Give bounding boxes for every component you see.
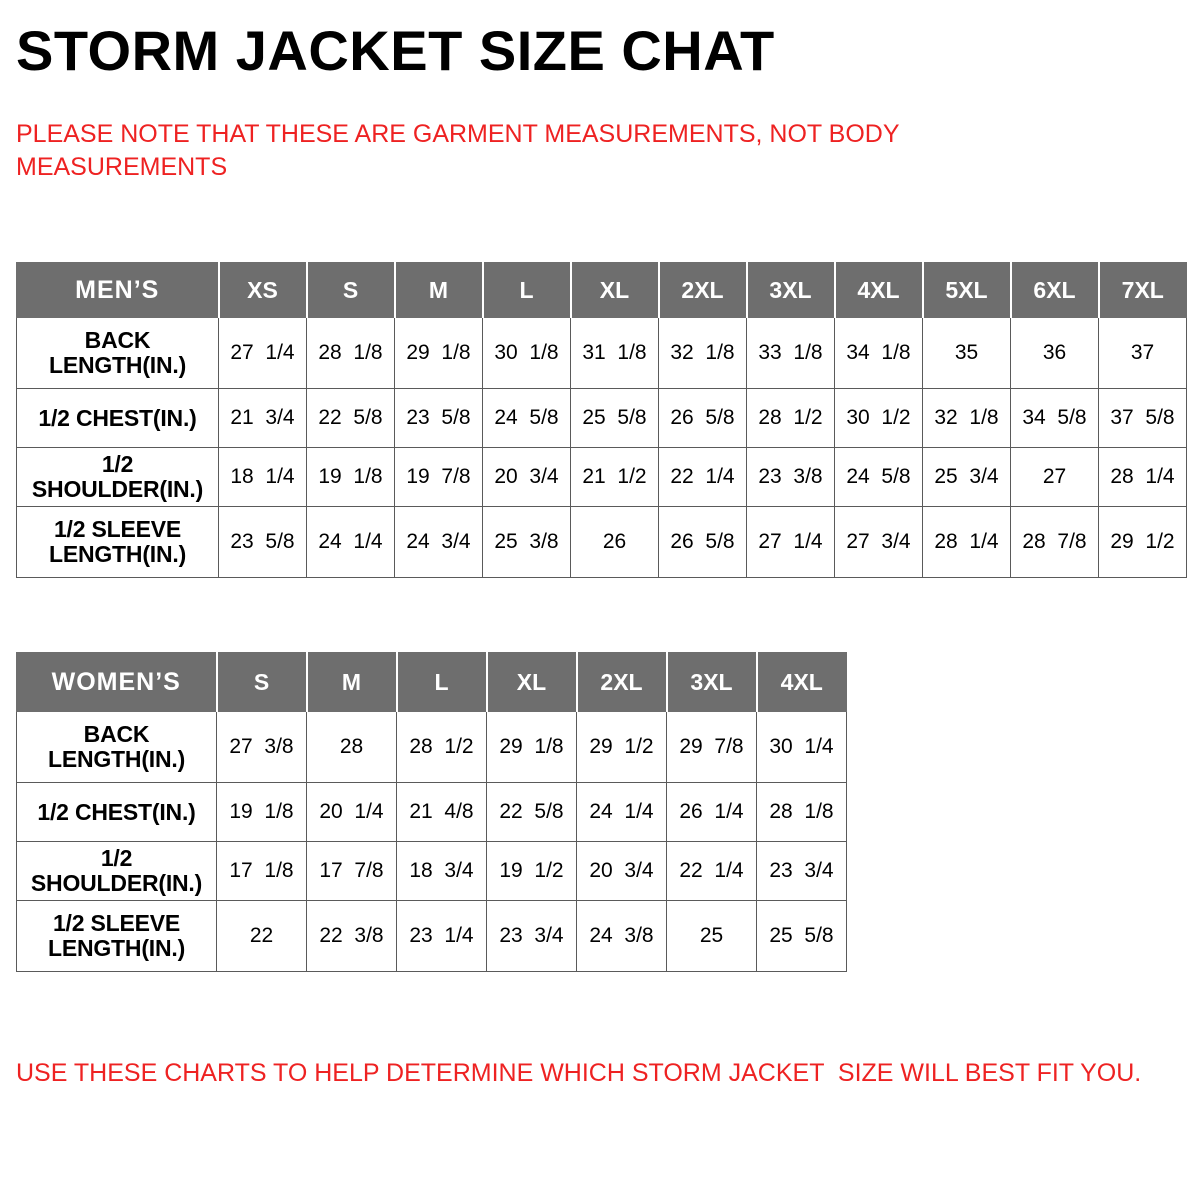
cell: 28 1/8	[757, 783, 847, 842]
cell: 23 5/8	[219, 507, 307, 578]
mens-size-table: MEN’S XS S M L XL 2XL 3XL 4XL 5XL 6XL 7X…	[16, 262, 1187, 578]
mens-table-corner-label: MEN’S	[17, 263, 219, 318]
cell: 18 1/4	[219, 448, 307, 507]
row-label-line-2: LENGTH(IN.)	[17, 542, 218, 567]
cell: 28 1/8	[307, 318, 395, 389]
mens-row-label-half-sleeve-length: 1/2 SLEEVE LENGTH(IN.)	[17, 507, 219, 578]
womens-size-table: WOMEN’S S M L XL 2XL 3XL 4XL BACK LENGTH…	[16, 652, 847, 972]
cell: 18 3/4	[397, 842, 487, 901]
mens-size-header-xs: XS	[219, 263, 307, 318]
mens-size-header-4xl: 4XL	[835, 263, 923, 318]
mens-row-label-half-shoulder: 1/2 SHOULDER(IN.)	[17, 448, 219, 507]
cell: 36	[1011, 318, 1099, 389]
womens-size-header-s: S	[217, 653, 307, 712]
table-row: BACK LENGTH(IN.) 27 3/8 28 28 1/2 29 1/8…	[17, 712, 847, 783]
cell: 27	[1011, 448, 1099, 507]
cell: 17 7/8	[307, 842, 397, 901]
cell: 32 1/8	[659, 318, 747, 389]
size-chart-page: STORM JACKET SIZE CHAT PLEASE NOTE THAT …	[0, 0, 1200, 1200]
womens-row-label-half-shoulder: 1/2 SHOULDER(IN.)	[17, 842, 217, 901]
cell: 32 1/8	[923, 389, 1011, 448]
table-row: 1/2 SLEEVE LENGTH(IN.) 22 22 3/8 23 1/4 …	[17, 901, 847, 972]
cell: 25	[667, 901, 757, 972]
cell: 29 1/2	[577, 712, 667, 783]
cell: 28	[307, 712, 397, 783]
cell: 37	[1099, 318, 1187, 389]
mens-row-label-back-length: BACK LENGTH(IN.)	[17, 318, 219, 389]
cell: 20 1/4	[307, 783, 397, 842]
cell: 22 1/4	[659, 448, 747, 507]
cell: 25 3/4	[923, 448, 1011, 507]
cell: 25 3/8	[483, 507, 571, 578]
cell: 28 1/4	[923, 507, 1011, 578]
cell: 22 5/8	[487, 783, 577, 842]
cell: 26 5/8	[659, 389, 747, 448]
womens-size-header-m: M	[307, 653, 397, 712]
cell: 24 5/8	[483, 389, 571, 448]
cell: 22	[217, 901, 307, 972]
mens-size-header-2xl: 2XL	[659, 263, 747, 318]
table-row: 1/2 SLEEVE LENGTH(IN.) 23 5/8 24 1/4 24 …	[17, 507, 1187, 578]
row-label-line-1: 1/2 CHEST(IN.)	[17, 800, 216, 825]
cell: 24 3/8	[577, 901, 667, 972]
mens-size-header-6xl: 6XL	[1011, 263, 1099, 318]
table-row: 1/2 SHOULDER(IN.) 17 1/8 17 7/8 18 3/4 1…	[17, 842, 847, 901]
cell: 24 3/4	[395, 507, 483, 578]
cell: 34 5/8	[1011, 389, 1099, 448]
row-label-line-1: 1/2 SLEEVE	[17, 911, 216, 936]
row-label-line-1: 1/2 SHOULDER(IN.)	[17, 452, 218, 502]
cell: 23 3/4	[487, 901, 577, 972]
cell: 24 1/4	[307, 507, 395, 578]
table-row: 1/2 CHEST(IN.) 19 1/8 20 1/4 21 4/8 22 5…	[17, 783, 847, 842]
cell: 30 1/4	[757, 712, 847, 783]
cell: 17 1/8	[217, 842, 307, 901]
cell: 24 1/4	[577, 783, 667, 842]
cell: 20 3/4	[483, 448, 571, 507]
cell: 30 1/8	[483, 318, 571, 389]
cell: 29 1/8	[395, 318, 483, 389]
cell: 28 1/4	[1099, 448, 1187, 507]
cell: 27 1/4	[219, 318, 307, 389]
table-row: 1/2 CHEST(IN.) 21 3/4 22 5/8 23 5/8 24 5…	[17, 389, 1187, 448]
cell: 26	[571, 507, 659, 578]
cell: 31 1/8	[571, 318, 659, 389]
cell: 28 1/2	[747, 389, 835, 448]
row-label-line-2: LENGTH(IN.)	[17, 353, 218, 378]
womens-row-label-half-chest: 1/2 CHEST(IN.)	[17, 783, 217, 842]
mens-size-header-xl: XL	[571, 263, 659, 318]
cell: 27 3/8	[217, 712, 307, 783]
row-label-line-1: 1/2 SHOULDER(IN.)	[17, 846, 216, 896]
womens-table-corner-label: WOMEN’S	[17, 653, 217, 712]
row-label-line-2: LENGTH(IN.)	[17, 747, 216, 772]
cell: 22 5/8	[307, 389, 395, 448]
cell: 35	[923, 318, 1011, 389]
cell: 22 3/8	[307, 901, 397, 972]
page-title: STORM JACKET SIZE CHAT	[16, 22, 775, 81]
row-label-line-1: BACK	[17, 722, 216, 747]
womens-size-header-2xl: 2XL	[577, 653, 667, 712]
cell: 28 1/2	[397, 712, 487, 783]
cell: 21 3/4	[219, 389, 307, 448]
cell: 19 1/8	[217, 783, 307, 842]
cell: 23 3/4	[757, 842, 847, 901]
cell: 26 1/4	[667, 783, 757, 842]
cell: 19 1/2	[487, 842, 577, 901]
cell: 30 1/2	[835, 389, 923, 448]
cell: 24 5/8	[835, 448, 923, 507]
cell: 21 4/8	[397, 783, 487, 842]
cell: 19 1/8	[307, 448, 395, 507]
womens-row-label-back-length: BACK LENGTH(IN.)	[17, 712, 217, 783]
mens-size-header-7xl: 7XL	[1099, 263, 1187, 318]
table-row: BACK LENGTH(IN.) 27 1/4 28 1/8 29 1/8 30…	[17, 318, 1187, 389]
cell: 26 5/8	[659, 507, 747, 578]
cell: 27 1/4	[747, 507, 835, 578]
cell: 23 1/4	[397, 901, 487, 972]
mens-row-label-half-chest: 1/2 CHEST(IN.)	[17, 389, 219, 448]
cell: 20 3/4	[577, 842, 667, 901]
cell: 22 1/4	[667, 842, 757, 901]
garment-measurement-note: PLEASE NOTE THAT THESE ARE GARMENT MEASU…	[16, 118, 1016, 184]
cell: 21 1/2	[571, 448, 659, 507]
mens-size-header-5xl: 5XL	[923, 263, 1011, 318]
cell: 29 7/8	[667, 712, 757, 783]
cell: 25 5/8	[757, 901, 847, 972]
cell: 28 7/8	[1011, 507, 1099, 578]
usage-instruction-note: USE THESE CHARTS TO HELP DETERMINE WHICH…	[16, 1058, 1186, 1088]
womens-size-header-4xl: 4XL	[757, 653, 847, 712]
table-row: 1/2 SHOULDER(IN.) 18 1/4 19 1/8 19 7/8 2…	[17, 448, 1187, 507]
womens-table-header-row: WOMEN’S S M L XL 2XL 3XL 4XL	[17, 653, 847, 712]
mens-size-header-l: L	[483, 263, 571, 318]
cell: 25 5/8	[571, 389, 659, 448]
womens-size-header-xl: XL	[487, 653, 577, 712]
womens-row-label-half-sleeve-length: 1/2 SLEEVE LENGTH(IN.)	[17, 901, 217, 972]
cell: 19 7/8	[395, 448, 483, 507]
mens-size-header-3xl: 3XL	[747, 263, 835, 318]
cell: 33 1/8	[747, 318, 835, 389]
row-label-line-2: LENGTH(IN.)	[17, 936, 216, 961]
cell: 27 3/4	[835, 507, 923, 578]
mens-size-header-m: M	[395, 263, 483, 318]
cell: 23 3/8	[747, 448, 835, 507]
mens-size-header-s: S	[307, 263, 395, 318]
cell: 23 5/8	[395, 389, 483, 448]
cell: 34 1/8	[835, 318, 923, 389]
cell: 29 1/2	[1099, 507, 1187, 578]
row-label-line-1: 1/2 SLEEVE	[17, 517, 218, 542]
row-label-line-1: 1/2 CHEST(IN.)	[17, 406, 218, 431]
cell: 29 1/8	[487, 712, 577, 783]
womens-size-header-l: L	[397, 653, 487, 712]
cell: 37 5/8	[1099, 389, 1187, 448]
row-label-line-1: BACK	[17, 328, 218, 353]
womens-size-header-3xl: 3XL	[667, 653, 757, 712]
mens-table-header-row: MEN’S XS S M L XL 2XL 3XL 4XL 5XL 6XL 7X…	[17, 263, 1187, 318]
